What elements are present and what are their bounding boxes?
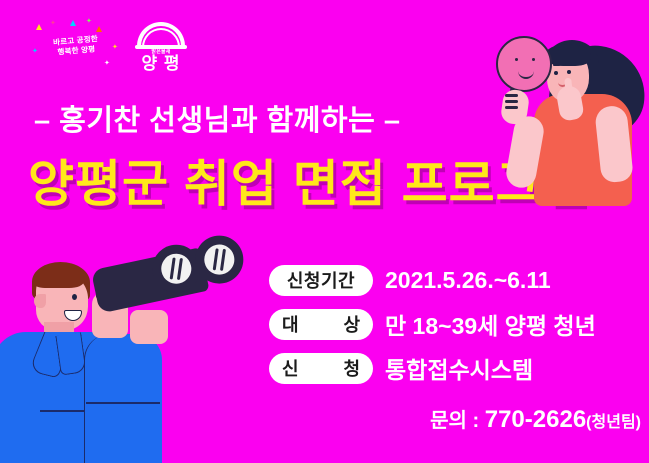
poster-subtitle: – 홍기찬 선생님과 함께하는 –	[34, 97, 504, 139]
confetti-star-icon: ✦	[104, 60, 108, 64]
slogan-text: 바르고 공정한 행복한 양평	[37, 33, 114, 60]
man-collar-right	[55, 332, 86, 375]
info-value-target: 만 18~39세 양평 청년	[385, 307, 596, 341]
info-label-application: 신 청	[269, 353, 373, 384]
man-raised-arm	[84, 334, 162, 463]
woman-eyebrow	[565, 63, 572, 65]
contact-team: (청년팀)	[586, 414, 641, 431]
man-sleeve-seam	[86, 402, 160, 404]
info-label-application-period: 신청기간	[269, 265, 373, 296]
lens-glare	[177, 258, 183, 280]
lens-glare	[213, 248, 219, 270]
man-hair-front	[34, 266, 84, 288]
confetti-star-icon: ✦	[50, 20, 54, 24]
info-value-application: 통합접수시스템	[385, 351, 533, 385]
mirror-smiley-eye	[515, 58, 518, 61]
man-eye	[72, 294, 77, 300]
logo-row: ✦ ✦ ✦ ✦ ✦ 바르고 공정한 행복한 양평 맑은물새 양 평	[30, 18, 200, 74]
man-shirt-seam	[40, 410, 86, 412]
mirror-hand-knuckle	[505, 100, 518, 103]
contact-phone-number: 770-2626	[485, 406, 586, 433]
hand-mirror-icon	[496, 36, 558, 98]
mirror-hand-knuckle	[505, 106, 518, 109]
lens-glare	[170, 257, 176, 279]
yangpyeong-county-emblem: 맑은물새 양 평	[130, 20, 192, 74]
confetti-star-icon: ✦	[86, 18, 90, 22]
confetti-star-icon: ✦	[32, 48, 36, 52]
contact-line: 문의 : 770-2626(청년팀)	[269, 404, 641, 434]
emblem-name-text: 양 평	[130, 54, 192, 73]
info-label-target: 대 상	[269, 309, 373, 340]
confetti-triangle-icon	[36, 24, 42, 30]
info-row: 신 청 통합접수시스템	[269, 350, 639, 386]
confetti-triangle-icon	[70, 20, 76, 26]
info-row: 대 상 만 18~39세 양평 청년	[269, 306, 639, 342]
label-char: 청	[343, 355, 360, 381]
promotional-poster: ✦ ✦ ✦ ✦ ✦ 바르고 공정한 행복한 양평 맑은물새 양 평 – 홍기찬 …	[0, 0, 649, 463]
mirror-glass	[496, 36, 552, 92]
label-char: 상	[343, 311, 360, 337]
binoculars-icon	[89, 231, 251, 327]
info-row: 신청기간 2021.5.26.~6.11	[269, 262, 639, 298]
yangpyeong-slogan-logo: ✦ ✦ ✦ ✦ ✦ 바르고 공정한 행복한 양평	[30, 18, 122, 74]
woman-with-mirror-illustration	[490, 24, 649, 204]
label-char: 대	[282, 311, 299, 337]
label-char: 신	[282, 355, 299, 381]
lens-glare	[220, 249, 226, 271]
info-value-application-period: 2021.5.26.~6.11	[385, 267, 551, 294]
mirror-hand-knuckle	[505, 94, 518, 97]
confetti-triangle-icon	[96, 26, 102, 32]
man-with-binoculars-illustration	[0, 252, 250, 463]
mirror-smiley-mouth	[518, 68, 534, 79]
woman-eye	[567, 70, 571, 74]
info-block: 신청기간 2021.5.26.~6.11 대 상 만 18~39세 양평 청년 …	[269, 262, 639, 394]
mirror-smiley-eye	[532, 58, 535, 61]
man-ear	[34, 294, 46, 308]
contact-prefix: 문의 :	[430, 410, 485, 432]
